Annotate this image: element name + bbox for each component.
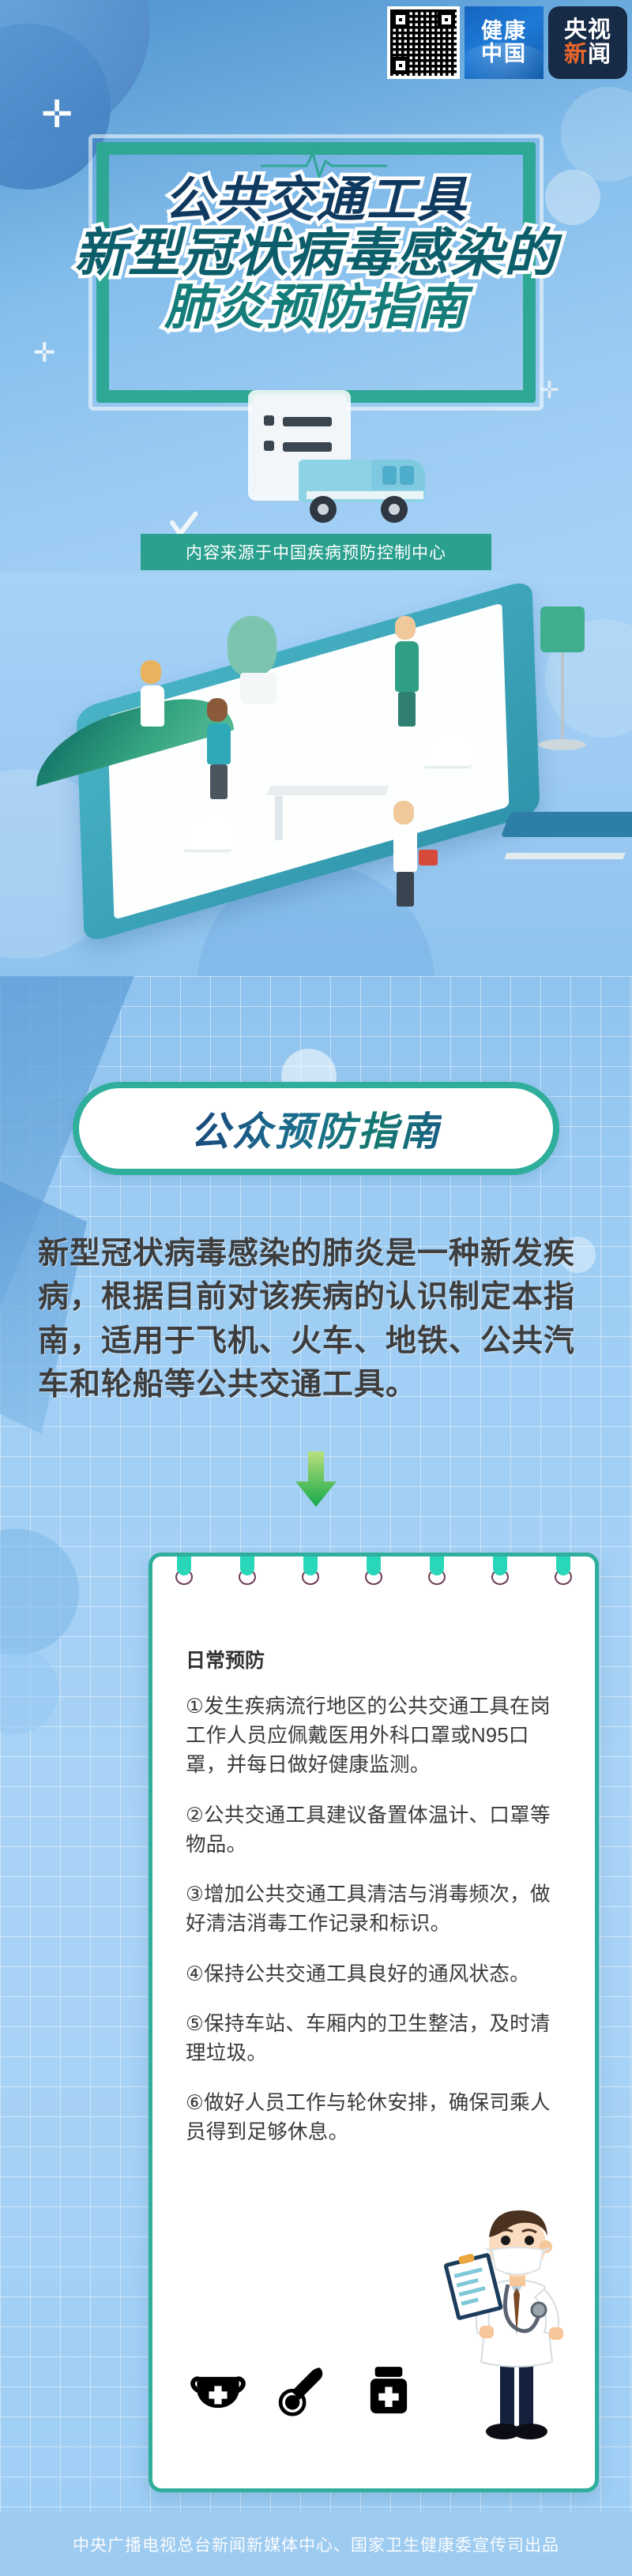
thermometer-icon (274, 2360, 333, 2419)
title-line-3: 肺炎预防指南 (0, 283, 632, 332)
list-item: ⑤保持车站、车厢内的卫生整洁，及时清理垃圾。 (186, 2010, 568, 2068)
cctv-logo-xin: 新 (564, 42, 588, 67)
first-aid-kit-icon (419, 850, 438, 866)
binder-rings (152, 1553, 595, 1575)
down-arrow-icon (294, 1451, 338, 1507)
footer-text: 中央广播电视总台新闻新媒体中心、国家卫生健康委宣传司出品 (73, 2533, 559, 2556)
poster-title: 公共交通工具 新型冠状病毒感染的 肺炎预防指南 (0, 172, 632, 335)
title-line-2: 新型冠状病毒感染的 (0, 227, 632, 280)
potted-plant-graphic (234, 616, 276, 704)
cctv-logo-line1: 央视 (564, 18, 611, 43)
plus-icon: ✛ (41, 96, 73, 134)
medical-icon-row (189, 2360, 418, 2419)
header-section: ✛ ✛ ✛ 健康 中国 央视 新闻 (0, 0, 632, 584)
decorative-bubble (0, 1529, 79, 1655)
qr-code-icon[interactable] (387, 6, 460, 79)
face-mask-icon (189, 2360, 247, 2419)
prevention-card: 日常预防 ①发生疾病流行地区的公共交通工具在岗工作人员应佩戴医用外科口罩或N95… (149, 1553, 599, 2492)
section-title-pill: 公众预防指南 (73, 1082, 559, 1175)
doctor-illustration (443, 2193, 590, 2454)
source-banner: 内容来源于中国疾病预防控制中心 (141, 534, 491, 570)
ambulance-icon (299, 449, 425, 521)
section-title-text: 公众预防指南 (190, 1100, 442, 1157)
doctor-with-kit-figure (393, 801, 417, 907)
list-item: ①发生疾病流行地区的公共交通工具在岗工作人员应佩戴医用外科口罩或N95口罩，并每… (186, 1692, 568, 1781)
receptionist-figure (141, 660, 164, 727)
list-item: ②公共交通工具建议备置体温计、口罩等物品。 (186, 1801, 568, 1860)
floor-lamp-graphic (540, 606, 586, 750)
healthy-china-logo[interactable]: 健康 中国 (465, 6, 544, 79)
plus-icon: ✛ (33, 340, 56, 366)
decorative-bubble (0, 1647, 58, 1734)
medicine-bottle-icon (359, 2360, 418, 2419)
healthy-china-line1: 健康 (481, 20, 527, 43)
hospital-illustration (0, 572, 632, 982)
list-item: ③增加公共交通工具清洁与消毒频次，做好清洁消毒工作记录和标识。 (186, 1880, 568, 1939)
hospital-bed-graphic (506, 809, 632, 859)
intro-paragraph: 新型冠状病毒感染的肺炎是一种新发疾病，根据目前对该疾病的认识制定本指南，适用于飞… (38, 1232, 596, 1407)
title-line-1: 公共交通工具 (0, 175, 632, 224)
surgeon-figure (395, 616, 419, 727)
desk-graphic (269, 785, 387, 840)
visitor-figure (207, 698, 231, 799)
healthy-china-line2: 中国 (481, 43, 527, 66)
logo-strip: 健康 中国 央视 新闻 (387, 6, 627, 82)
prevention-list: ①发生疾病流行地区的公共交通工具在岗工作人员应佩戴医用外科口罩或N95口罩，并每… (186, 1692, 568, 2169)
cctv-news-logo[interactable]: 央视 新闻 (548, 6, 627, 79)
list-item: ⑥做好人员工作与轮休安排，确保司乘人员得到足够休息。 (186, 2089, 568, 2147)
infographic-poster: ✛ ✛ ✛ 健康 中国 央视 新闻 (0, 0, 632, 2576)
card-title: 日常预防 (186, 1645, 265, 1673)
footer-bar: 中央广播电视总台新闻新媒体中心、国家卫生健康委宣传司出品 (0, 2513, 632, 2576)
list-item: ④保持公共交通工具良好的通风状态。 (186, 1960, 568, 1989)
cctv-logo-wen: 闻 (588, 42, 611, 67)
